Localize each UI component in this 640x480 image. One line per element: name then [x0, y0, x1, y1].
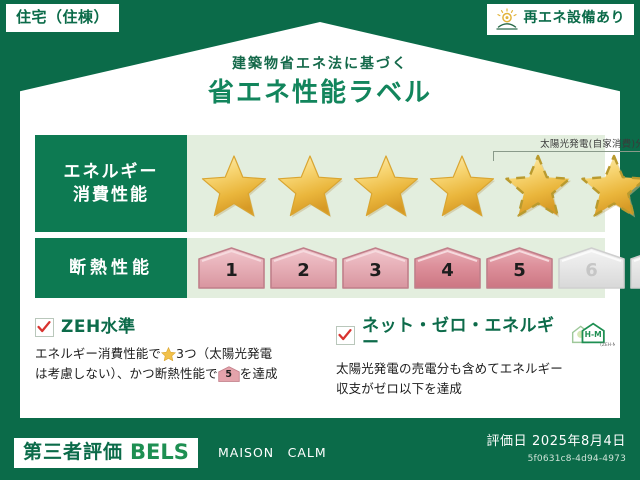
insulation-level-1: 1 — [197, 246, 266, 290]
insulation-label: 断熱性能 — [69, 257, 153, 280]
zeh-m-logo-caption: (ZEH-M) — [601, 342, 615, 348]
criterion-nze-text-2: 収支がゼロ以下を達成 — [336, 381, 462, 396]
energy-performance-row: エネルギー 消費性能 太陽光発電(自家消費)分 — [35, 135, 605, 232]
star-solar-icon — [501, 152, 575, 222]
criterion-zeh-title: ZEH水準 — [61, 319, 136, 336]
bels-jp-label: 第三者評価 — [23, 442, 123, 463]
insulation-level-value: 3 — [341, 262, 410, 280]
building-name: MAISON CALM — [218, 446, 327, 460]
inline-star-icon — [161, 347, 176, 362]
rating-panel: エネルギー 消費性能 太陽光発電(自家消費)分 断熱性能 1234567 — [35, 135, 605, 298]
insulation-label-cell: 断熱性能 — [35, 238, 187, 298]
title-subtitle: 建築物省エネ法に基づく — [0, 56, 640, 73]
insulation-level-scale: 1234567 — [187, 246, 640, 290]
criterion-zeh-text-3: を達成 — [240, 366, 278, 381]
criteria-block: ZEH水準 エネルギー消費性能で 3つ（太陽光発電 は考慮しない）、かつ断熱性能… — [35, 318, 615, 400]
insulation-level-value: 6 — [557, 262, 626, 280]
insulation-level-value: 7 — [629, 262, 640, 280]
renewable-badge-label: 再エネ設備あり — [524, 11, 626, 26]
insulation-level-value: 1 — [197, 262, 266, 280]
insulation-level-4: 4 — [413, 246, 482, 290]
criterion-zeh-body: エネルギー消費性能で 3つ（太陽光発電 は考慮しない）、かつ断熱性能で 5 を達… — [35, 344, 314, 385]
footer-bar: 第三者評価 BELS MAISON CALM 評価日 2025年8月4日 5f0… — [0, 424, 640, 480]
zeh-m-logo-icon: H-M (ZEH-M) — [570, 321, 615, 349]
star-filled-icon — [349, 152, 423, 222]
star-filled-icon — [273, 152, 347, 222]
checkbox-checked-icon — [35, 318, 54, 337]
criterion-zeh-text-2: は考慮しない）、かつ断熱性能で — [35, 366, 218, 381]
checkbox-checked-icon — [336, 326, 355, 345]
criterion-nze-header: ネット・ゼロ・エネルギー H-M (ZEH-M) — [336, 318, 615, 352]
inline-house-badge: 5 — [218, 366, 240, 382]
criterion-zeh-header: ZEH水準 — [35, 318, 314, 337]
evaluation-date: 評価日 2025年8月4日 — [486, 434, 626, 450]
star-filled-icon — [425, 152, 499, 222]
insulation-level-5: 5 — [485, 246, 554, 290]
star-filled-icon — [197, 152, 271, 222]
insulation-levels-area: 1234567 — [187, 238, 640, 298]
insulation-level-2: 2 — [269, 246, 338, 290]
energy-performance-label: 住宅（住棟） 再エネ設備あり 建築物省エネ法に基づく 省エネ性能ラベル — [0, 0, 640, 480]
solar-bracket — [493, 151, 640, 161]
bels-badge: 第三者評価 BELS — [14, 438, 198, 468]
star-solar-icon — [577, 152, 640, 222]
criterion-nze-body: 太陽光発電の売電分も含めてエネルギー 収支がゼロ以下を達成 — [336, 359, 615, 400]
criterion-zeh: ZEH水準 エネルギー消費性能で 3つ（太陽光発電 は考慮しない）、かつ断熱性能… — [35, 318, 314, 400]
zeh-m-logo-text: H-M — [585, 330, 602, 339]
title-main: 省エネ性能ラベル — [0, 78, 640, 109]
solar-self-consumption-note: 太陽光発電(自家消費)分 — [540, 136, 640, 150]
label-title-block: 建築物省エネ法に基づく 省エネ性能ラベル — [0, 56, 640, 109]
insulation-level-value: 5 — [485, 262, 554, 280]
insulation-performance-row: 断熱性能 1234567 — [35, 238, 605, 298]
insulation-level-6: 6 — [557, 246, 626, 290]
evaluation-id: 5f0631c8-4d94-4973 — [528, 454, 626, 465]
renewable-equipment-badge: 再エネ設備あり — [487, 4, 635, 35]
insulation-level-7: 7 — [629, 246, 640, 290]
building-kind-badge: 住宅（住棟） — [6, 4, 119, 32]
insulation-level-value: 4 — [413, 262, 482, 280]
criterion-zeh-text-star-count: 3つ（太陽光発電 — [176, 346, 272, 361]
bels-en-label: BELS — [130, 441, 189, 464]
energy-label-line1: エネルギー — [64, 161, 159, 184]
inline-house-value: 5 — [218, 370, 240, 380]
energy-performance-label-cell: エネルギー 消費性能 — [35, 135, 187, 232]
insulation-level-value: 2 — [269, 262, 338, 280]
criterion-zeh-text-1: エネルギー消費性能で — [35, 346, 161, 361]
criterion-nze-title: ネット・ゼロ・エネルギー — [362, 318, 565, 352]
energy-stars-area: 太陽光発電(自家消費)分 — [187, 135, 640, 232]
building-kind-label: 住宅（住棟） — [16, 8, 109, 26]
criterion-net-zero-energy: ネット・ゼロ・エネルギー H-M (ZEH-M) 太陽光発電の売電分も含めてエネ… — [336, 318, 615, 400]
criterion-nze-text-1: 太陽光発電の売電分も含めてエネルギー — [336, 361, 563, 376]
star-rating — [187, 152, 640, 222]
sun-solar-icon — [495, 8, 519, 30]
insulation-level-3: 3 — [341, 246, 410, 290]
energy-label-line2: 消費性能 — [73, 184, 149, 207]
